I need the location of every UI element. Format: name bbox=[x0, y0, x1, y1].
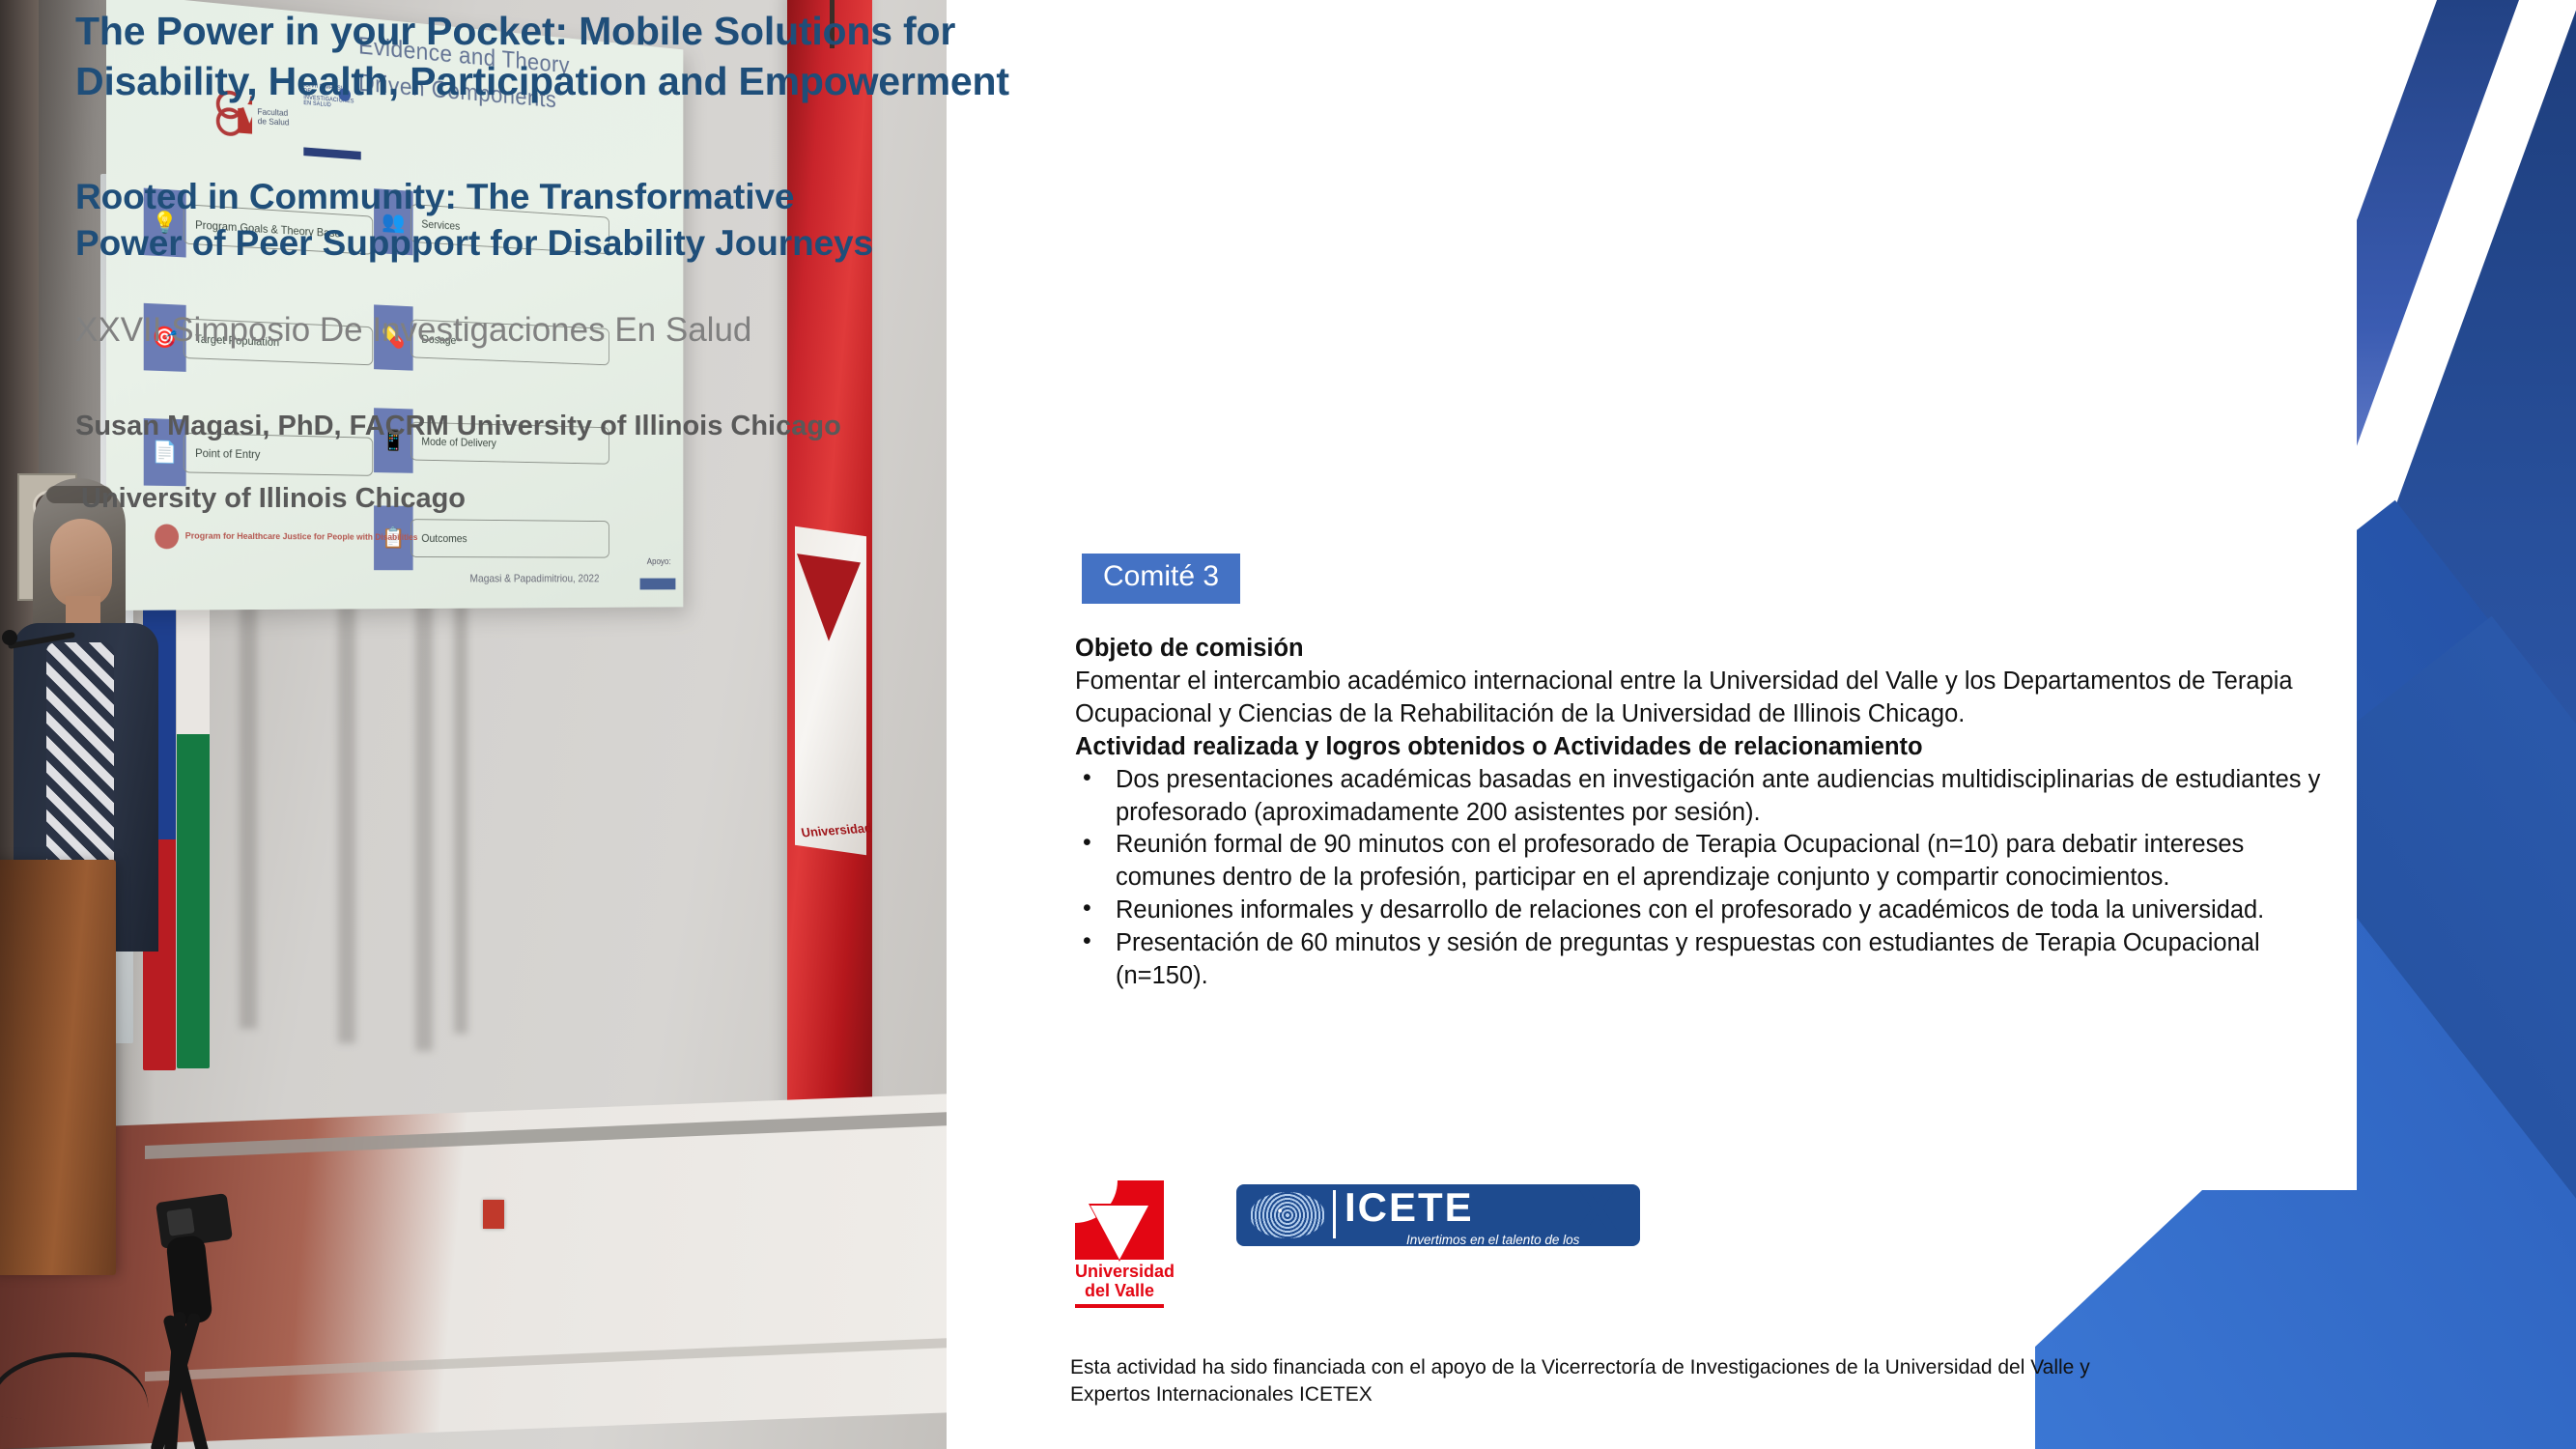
univalle-label-line2: del Valle bbox=[1085, 1281, 1154, 1300]
list-item-text: Presentación de 60 minutos y sesión de p… bbox=[1116, 929, 2260, 989]
bullet-icon: • bbox=[1083, 893, 1091, 924]
slide-text-layer: The Power in your Pocket: Mobile Solutio… bbox=[0, 0, 1629, 1449]
objeto-text: Fomentar el intercambio académico intern… bbox=[1075, 666, 2340, 731]
activity-list: • Dos presentaciones académicas basadas … bbox=[1075, 764, 2340, 993]
bullet-icon: • bbox=[1083, 827, 1091, 859]
list-item: • Reunión formal de 90 minutos con el pr… bbox=[1075, 829, 2340, 895]
univalle-logo: Universidad del Valle bbox=[1075, 1180, 1164, 1308]
page-title: The Power in your Pocket: Mobile Solutio… bbox=[75, 6, 1234, 107]
icetex-tagline: Invertimos en el talento de los colombia… bbox=[1406, 1233, 1640, 1262]
univalle-underline bbox=[1075, 1304, 1164, 1308]
globe-icon bbox=[1250, 1192, 1325, 1238]
list-item: • Reuniones informales y desarrollo de r… bbox=[1075, 895, 2340, 927]
bullet-icon: • bbox=[1083, 762, 1091, 794]
page-subtitle-line1: Rooted in Community: The Transformative bbox=[75, 177, 794, 216]
icetex-logo-x: X bbox=[1576, 1179, 1618, 1240]
status-badge[interactable]: Comité 3 bbox=[1082, 554, 1240, 604]
list-item-text: Dos presentaciones académicas basadas en… bbox=[1116, 766, 2320, 826]
list-item-text: Reuniones informales y desarrollo de rel… bbox=[1116, 896, 2264, 923]
presenter-name: Susan Magasi, PhD, FACRM University of I… bbox=[75, 411, 841, 442]
funding-footnote: Esta actividad ha sido financiada con el… bbox=[1070, 1354, 2133, 1409]
page-subtitle-line2: Power of Peer Suppport for Disability Jo… bbox=[75, 223, 873, 263]
section-heading-objeto: Objeto de comisión bbox=[1075, 633, 2340, 666]
event-name: XXVII Simposio De Investigaciones En Sal… bbox=[75, 311, 751, 350]
presenter-affiliation: University of Illinois Chicago bbox=[81, 483, 466, 515]
list-item-text: Reunión formal de 90 minutos con el prof… bbox=[1116, 831, 2244, 891]
bullet-icon: • bbox=[1083, 925, 1091, 957]
icetex-logo-label: ICETE bbox=[1345, 1184, 1474, 1231]
list-item: • Dos presentaciones académicas basadas … bbox=[1075, 764, 2340, 830]
page-title-line1: The Power in your Pocket: Mobile Solutio… bbox=[75, 9, 955, 53]
section-heading-actividad: Actividad realizada y logros obtenidos o… bbox=[1075, 731, 2340, 764]
page-subtitle: Rooted in Community: The Transformative … bbox=[75, 174, 1196, 267]
univalle-mark-icon bbox=[1075, 1180, 1164, 1260]
univalle-label-line1: Universidad bbox=[1075, 1262, 1175, 1281]
sponsor-logos: Universidad del Valle ICETE X Invertimos… bbox=[1075, 1180, 1640, 1308]
page-title-line2: Disability, Health, Participation and Em… bbox=[75, 59, 1009, 103]
univalle-logo-label: Universidad del Valle bbox=[1075, 1263, 1164, 1301]
list-item: • Presentación de 60 minutos y sesión de… bbox=[1075, 927, 2340, 993]
body-content: Objeto de comisión Fomentar el intercamb… bbox=[1075, 633, 2340, 993]
icetex-logo: ICETE X Invertimos en el talento de los … bbox=[1236, 1180, 1640, 1258]
